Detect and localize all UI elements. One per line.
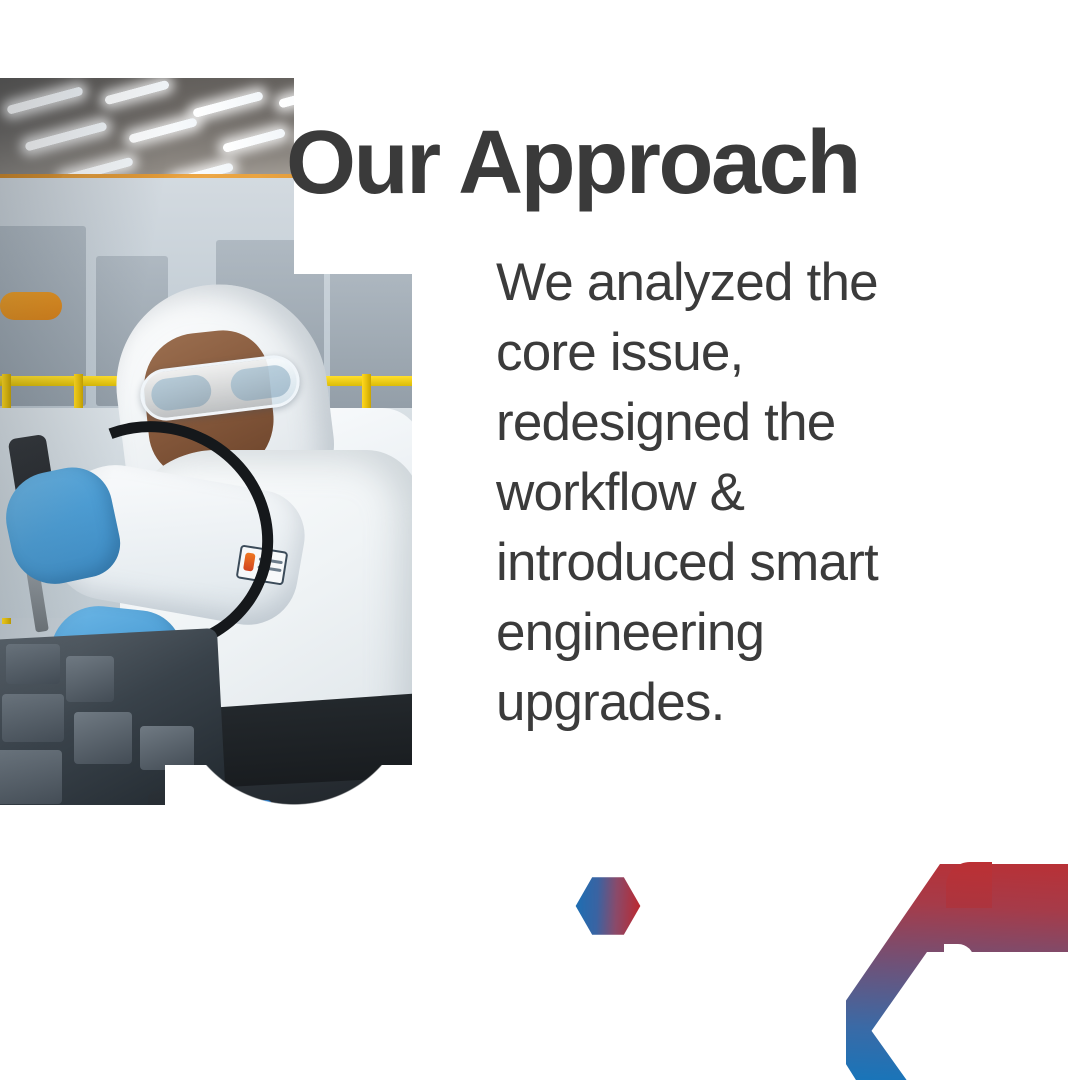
chevron-corner-cap <box>946 862 992 908</box>
assembly-block <box>0 750 62 804</box>
machine <box>330 264 412 410</box>
assembly-block <box>6 644 60 684</box>
hexagon-logo-mark <box>575 876 641 936</box>
robot-arm <box>0 292 62 320</box>
goggle-lens <box>150 373 213 412</box>
slide-canvas: Our Approach We analyzed the core issue,… <box>0 0 1068 1080</box>
assembly-block <box>2 694 64 742</box>
assembly-block <box>140 726 194 770</box>
assembly-block <box>74 712 132 764</box>
assembly-block <box>66 656 114 702</box>
body-paragraph: We analyzed the core issue, redesigned t… <box>496 248 966 738</box>
page-title: Our Approach <box>286 116 986 211</box>
goggle-lens <box>229 363 292 402</box>
